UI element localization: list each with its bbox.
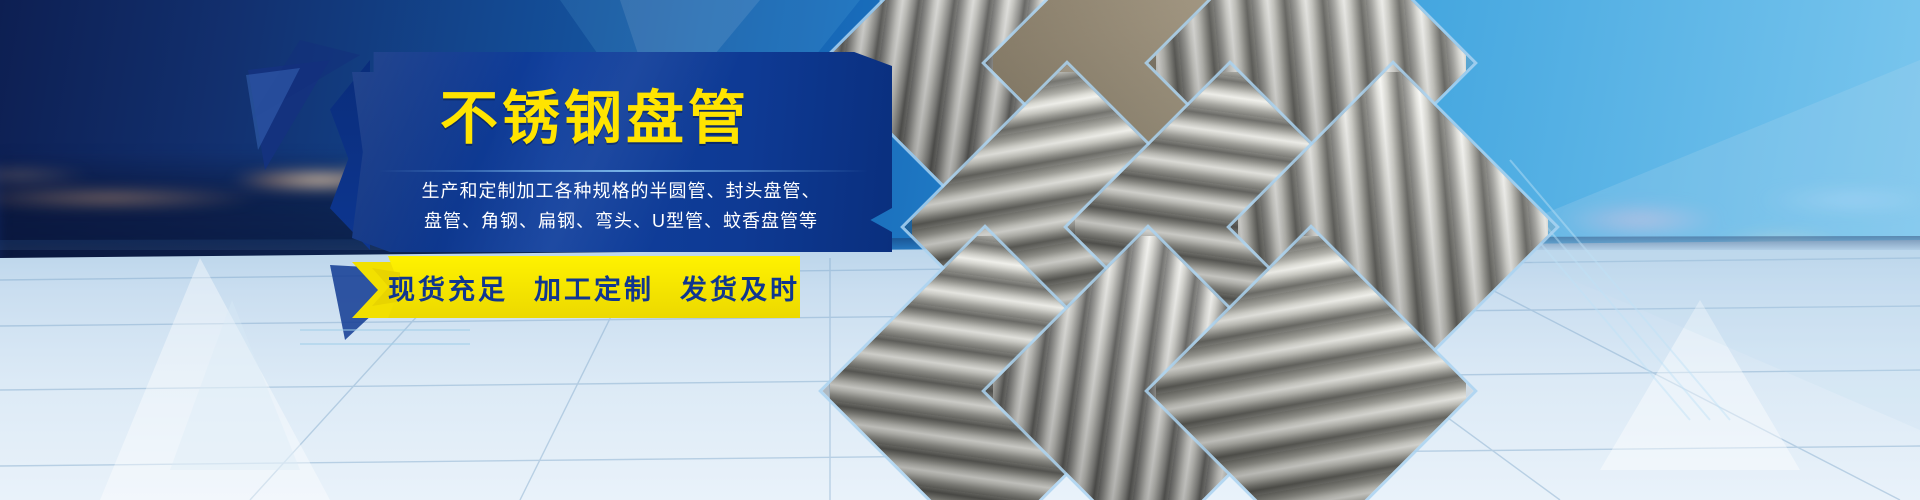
subtitle-line-1: 生产和定制加工各种规格的半圆管、封头盘管、 bbox=[366, 176, 876, 206]
subtitle-block: 生产和定制加工各种规格的半圆管、封头盘管、 盘管、角钢、扁钢、弯头、U型管、蚊香… bbox=[366, 176, 876, 236]
subtitle-line-2: 盘管、角钢、扁钢、弯头、U型管、蚊香盘管等 bbox=[366, 206, 876, 236]
page-title: 不锈钢盘管 bbox=[440, 90, 860, 148]
product-photo-mosaic bbox=[820, 0, 1460, 500]
promo-banner: 不锈钢盘管 生产和定制加工各种规格的半圆管、封头盘管、 盘管、角钢、扁钢、弯头、… bbox=[0, 0, 1920, 500]
tagline-text: 现货充足 加工定制 发货及时 bbox=[392, 256, 796, 318]
tagline-item-1: 加工定制 bbox=[534, 268, 654, 307]
tagline-item-0: 现货充足 bbox=[388, 268, 508, 307]
title-divider bbox=[378, 170, 868, 172]
tagline-item-2: 发货及时 bbox=[680, 268, 800, 307]
